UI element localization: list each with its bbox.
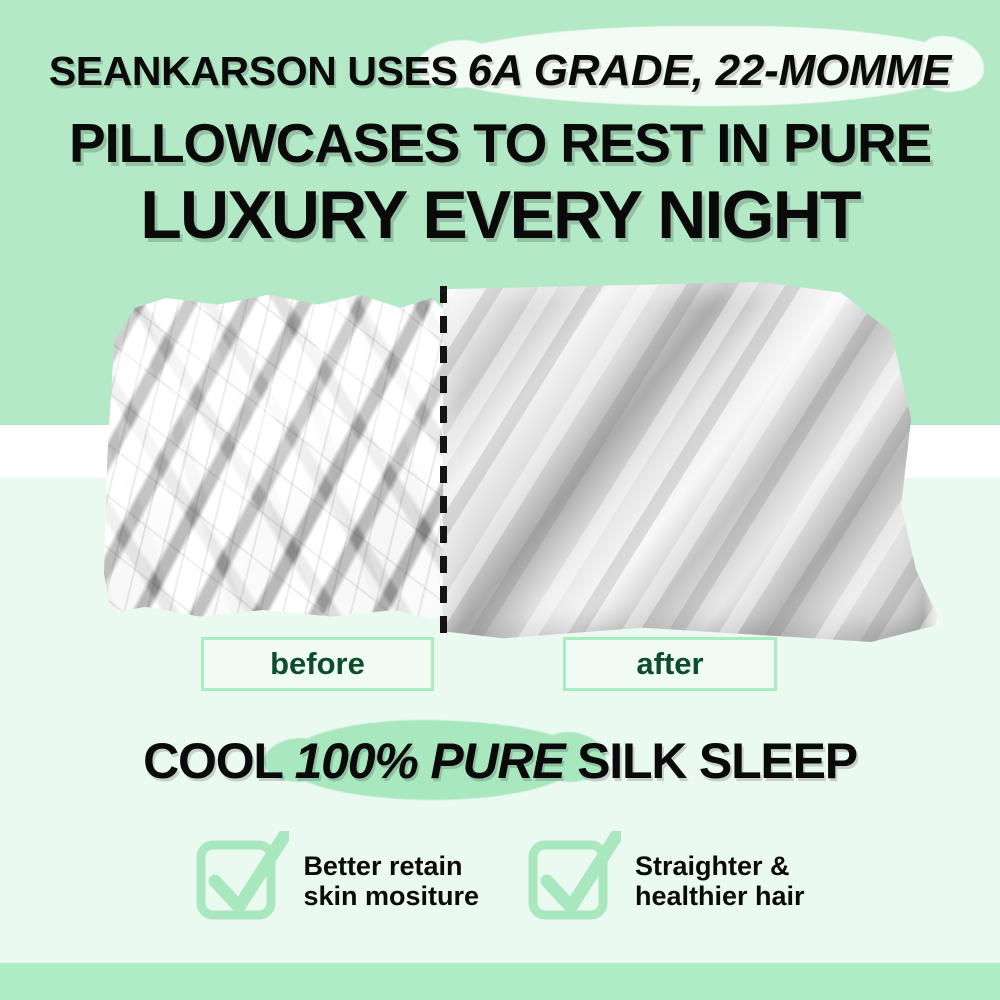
background-band-green-bottom [0, 963, 1000, 1000]
comparison-labels: before after [0, 637, 1000, 693]
benefit-item: Straighter & healthier hair [527, 826, 805, 936]
headline-line-1-plain: SEANKARSON USES [49, 48, 458, 94]
promo-graphic: SEANKARSON USES6A GRADE, 22-MOMME PILLOW… [0, 0, 1000, 1000]
subheadline-part2: SILK SLEEP [564, 733, 856, 789]
cotton-pillow-before-image [104, 288, 449, 620]
after-label-box: after [563, 637, 777, 691]
headline-line-3: LUXURY EVERY NIGHT [0, 181, 1000, 249]
dashed-divider-line [440, 286, 447, 646]
benefit-text: Straighter & healthier hair [635, 851, 805, 911]
subheadline-part1: COOL [143, 733, 294, 789]
before-label-box: before [201, 637, 434, 691]
subheadline-block: COOL 100% PURE SILK SLEEP [0, 716, 1000, 802]
silk-pillow-after-image [443, 282, 941, 642]
benefit-text: Better retain skin mositure [303, 851, 479, 911]
benefit-item: Better retain skin mositure [195, 826, 479, 936]
before-label-text: before [270, 646, 365, 682]
headline-block: SEANKARSON USES6A GRADE, 22-MOMME PILLOW… [0, 0, 1000, 249]
subheadline-highlight: 100% PURE [295, 733, 565, 789]
checkbox-check-icon [527, 831, 621, 931]
headline-line-1: SEANKARSON USES6A GRADE, 22-MOMME [0, 48, 1000, 94]
after-label-text: after [636, 646, 703, 682]
pillow-comparison-image [0, 270, 1000, 665]
benefits-list: Better retain skin mositure Straighter &… [0, 826, 1000, 936]
headline-line-1-italic: 6A GRADE, 22-MOMME [467, 46, 951, 95]
checkbox-check-icon [195, 831, 289, 931]
subheadline-text: COOL 100% PURE SILK SLEEP [0, 732, 1000, 790]
headline-line-2: PILLOWCASES TO REST IN PURE [0, 116, 1000, 171]
